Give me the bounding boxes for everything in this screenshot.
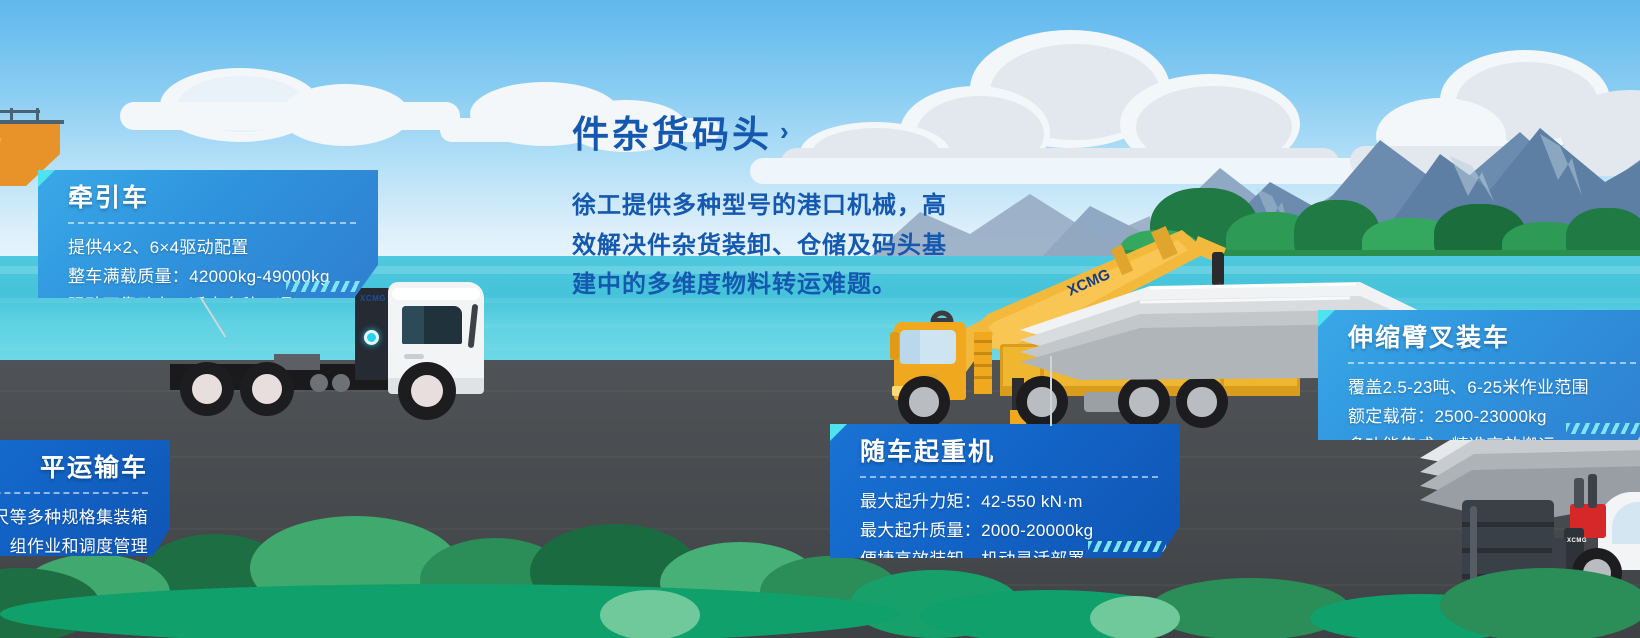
tractor-truck-vehicle: XCMG	[170, 282, 490, 432]
card-title: 牵引车	[68, 184, 356, 213]
headline-body: 徐工提供多种型号的港口机械，高 效解决件杂货装卸、仓储及码头基 建中的多维度物料…	[572, 186, 992, 305]
wheel	[240, 362, 294, 416]
foreground-bushes	[0, 498, 1640, 638]
corner-accent-icon	[830, 424, 847, 441]
headline-body-line: 徐工提供多种型号的港口机械，高	[572, 186, 992, 226]
hatch-decoration	[1566, 423, 1640, 434]
page-title: 件杂货码头	[572, 104, 772, 158]
xcmg-logo-icon: XCMG	[360, 294, 386, 303]
wheel	[898, 376, 950, 428]
info-card-telescopic-handler[interactable]: 伸缩臂叉装车 覆盖2.5-23吨、6-25米作业范围 额定载荷：2500-230…	[1318, 310, 1640, 440]
card-line: 提供4×2、6×4驱动配置	[68, 233, 356, 262]
card-line: 5尺等多种规格集装箱	[0, 503, 148, 532]
hatch-decoration	[286, 281, 364, 292]
corner-accent-icon	[1318, 310, 1335, 327]
card-divider	[0, 492, 148, 494]
card-line: 最大起升力矩：42-550 kN·m	[860, 487, 1158, 516]
card-title: 平运输车	[0, 454, 148, 483]
headline-body-line: 效解决件杂货装卸、仓储及码头基	[572, 226, 992, 266]
wheel	[398, 362, 456, 420]
card-title: 伸缩臂叉装车	[1348, 324, 1636, 353]
wheel	[1176, 376, 1228, 428]
info-card-container-transporter[interactable]: 平运输车 5尺等多种规格集装箱 组作业和调度管理	[0, 440, 170, 556]
hotspot-dot-tractor[interactable]	[364, 330, 379, 345]
wheel	[1016, 376, 1068, 428]
info-card-tractor-truck[interactable]: 牵引车 提供4×2、6×4驱动配置 整车满载质量：42000kg-49000kg…	[38, 170, 378, 298]
card-line: 覆盖2.5-23吨、6-25米作业范围	[1348, 373, 1636, 402]
headline-block: 件杂货码头 › 徐工提供多种型号的港口机械，高 效解决件杂货装卸、仓储及码头基 …	[572, 104, 992, 305]
card-connector-line	[1050, 356, 1052, 426]
wheel	[1118, 376, 1170, 428]
headline-body-line: 建中的多维度物料转运难题。	[572, 265, 992, 305]
hatch-decoration	[1088, 541, 1166, 552]
chevron-right-icon[interactable]: ›	[780, 116, 789, 147]
card-divider	[1348, 362, 1636, 364]
card-title: 随车起重机	[860, 438, 1158, 467]
info-card-truck-mounted-crane[interactable]: 随车起重机 最大起升力矩：42-550 kN·m 最大起升质量：2000-200…	[830, 424, 1180, 558]
card-divider	[860, 476, 1158, 478]
port-scene-illustration: XCMG XCMG	[0, 0, 1640, 638]
wheel	[180, 362, 234, 416]
card-divider	[68, 222, 356, 224]
corner-accent-icon	[38, 170, 55, 187]
